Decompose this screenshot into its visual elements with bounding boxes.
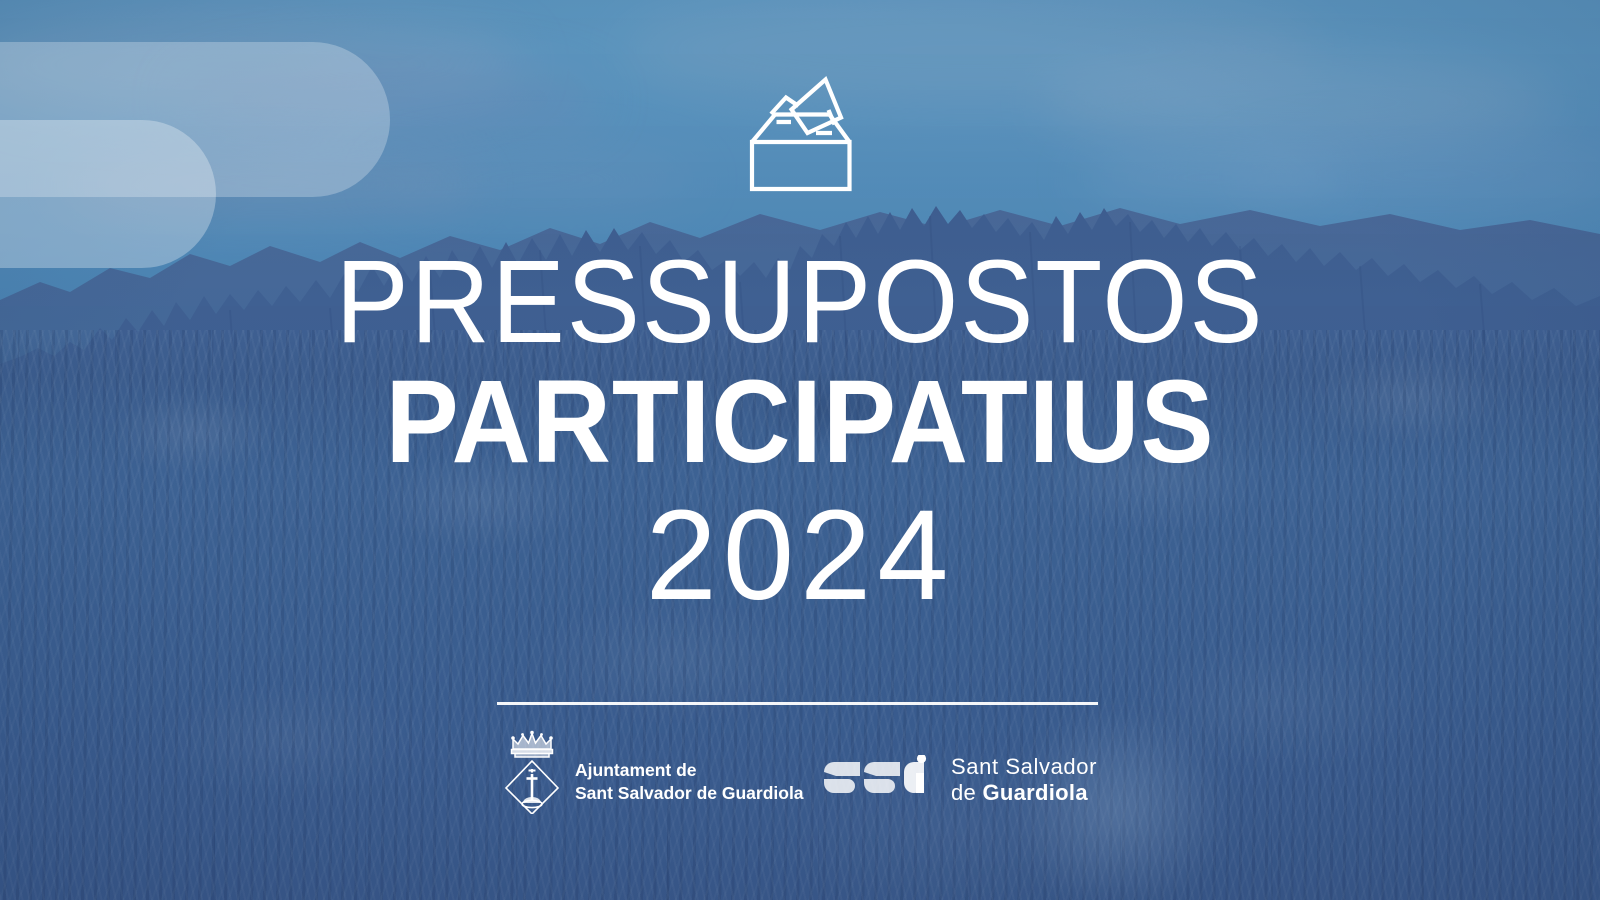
title-line-pressupostos: PRESSUPOSTOS — [56, 246, 1544, 358]
ssg-wordmark: Sant Salvador de Guardiola — [951, 754, 1097, 806]
headline-block: PRESSUPOSTOS PARTICIPATIUS 2024 — [0, 246, 1600, 620]
ajuntament-crest-icon — [501, 726, 563, 814]
footer-logo-row: Ajuntament de Sant Salvador de Guardiola — [497, 726, 1098, 830]
cloud-shape — [1040, 55, 1560, 150]
ssg-line-2-light: de — [951, 780, 982, 805]
ajuntament-line-2: Sant Salvador de Guardiola — [575, 782, 804, 805]
ajuntament-wordmark: Ajuntament de Sant Salvador de Guardiola — [575, 759, 804, 814]
ssg-logo: Sant Salvador de Guardiola — [824, 754, 1097, 806]
poster-canvas: PRESSUPOSTOS PARTICIPATIUS 2024 — [0, 0, 1600, 900]
ssg-line-1: Sant Salvador — [951, 754, 1097, 780]
cloud-shape — [180, 60, 600, 140]
ajuntament-logo: Ajuntament de Sant Salvador de Guardiola — [501, 726, 804, 814]
divider-rule — [497, 702, 1098, 705]
ssg-line-2-bold: Guardiola — [982, 780, 1087, 805]
title-year: 2024 — [0, 492, 1600, 620]
ajuntament-line-1: Ajuntament de — [575, 759, 804, 782]
ballot-box-icon — [730, 62, 870, 202]
ssg-monogram-icon — [824, 755, 938, 805]
title-line-participatius: PARTICIPATIUS — [56, 366, 1544, 478]
ssg-line-2: de Guardiola — [951, 780, 1097, 806]
